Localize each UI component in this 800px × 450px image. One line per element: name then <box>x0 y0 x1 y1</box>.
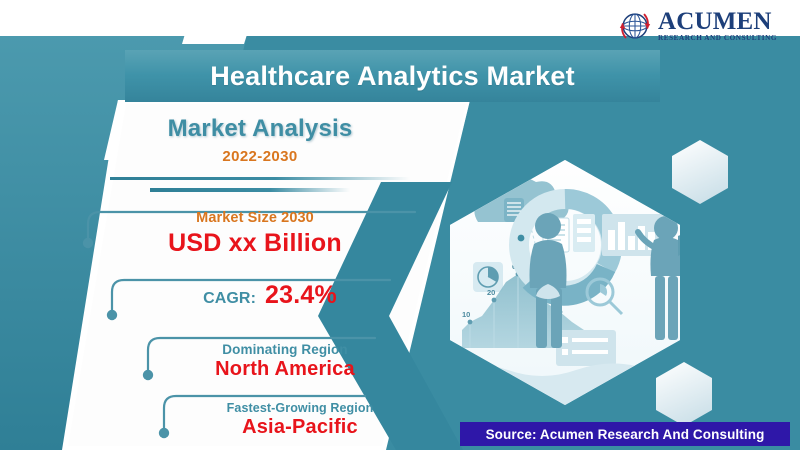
stat-label: Fastest-Growing Region <box>150 401 450 415</box>
logo-wordmark: ACUMEN <box>658 9 777 34</box>
infographic-canvas: 10 20 50 65 45 30 <box>0 0 800 450</box>
market-analysis-period: 2022-2030 <box>130 148 390 165</box>
source-text: Source: Acumen Research And Consulting <box>486 427 765 442</box>
globe-icon <box>616 7 654 45</box>
stat-value: USD xx Billion <box>95 229 415 258</box>
stat-cagr: CAGR: 23.4% <box>110 281 430 310</box>
stat-value: North America <box>135 358 435 381</box>
divider-line-top <box>110 177 410 180</box>
stat-label: Market Size 2030 <box>95 210 415 226</box>
svg-text:20: 20 <box>487 288 495 297</box>
market-analysis-heading: Market Analysis <box>130 115 390 143</box>
stat-value: 23.4% <box>265 281 337 310</box>
source-bar: Source: Acumen Research And Consulting <box>460 422 790 446</box>
stat-label: CAGR: <box>203 290 256 308</box>
divider-line-bottom <box>150 188 350 192</box>
stat-label: Dominating Region <box>135 342 435 357</box>
brand-logo: ACUMEN RESEARCH AND CONSULTING <box>616 4 792 48</box>
svg-text:10: 10 <box>462 310 470 319</box>
stat-dominating-region: Dominating Region North America <box>135 342 435 381</box>
logo-tagline: RESEARCH AND CONSULTING <box>658 35 777 42</box>
title-banner: Healthcare Analytics Market <box>125 50 660 102</box>
page-title: Healthcare Analytics Market <box>210 61 575 92</box>
stat-market-size: Market Size 2030 USD xx Billion <box>95 210 415 258</box>
stat-fastest-growing-region: Fastest-Growing Region Asia-Pacific <box>150 401 450 439</box>
stat-value: Asia-Pacific <box>150 416 450 439</box>
